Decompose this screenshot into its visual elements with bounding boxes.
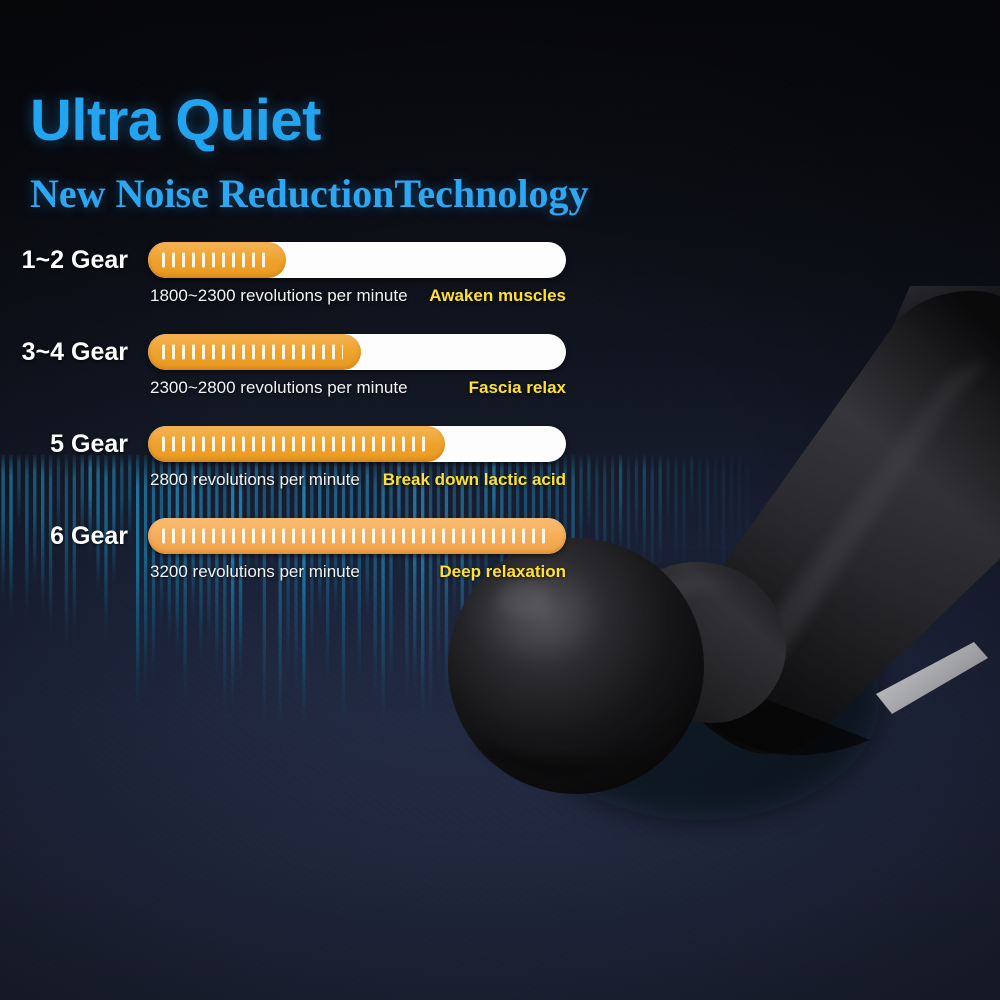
page-title: Ultra Quiet [30, 92, 321, 150]
gear-benefit-text: Deep relaxation [439, 558, 566, 586]
gear-row: 5 Gear2800 revolutions per minuteBreak d… [0, 422, 600, 502]
gear-tick-marks [162, 529, 548, 544]
gear-benefit-text: Break down lactic acid [383, 466, 566, 494]
gear-tick-marks [162, 345, 343, 360]
gear-tick-marks [162, 253, 268, 268]
gear-caption-row: 2800 revolutions per minuteBreak down la… [148, 466, 566, 494]
gear-progress-fill [148, 426, 445, 462]
gear-benefit-text: Fascia relax [469, 374, 566, 402]
gear-label: 6 Gear [0, 514, 128, 558]
gear-progress-track[interactable] [148, 426, 566, 462]
infographic-canvas: Ultra Quiet New Noise ReductionTechnolog… [0, 0, 1000, 1000]
page-subtitle: New Noise ReductionTechnology [30, 174, 589, 214]
gear-caption-row: 3200 revolutions per minuteDeep relaxati… [148, 558, 566, 586]
gear-progress-track[interactable] [148, 518, 566, 554]
gear-label: 3~4 Gear [0, 330, 128, 374]
gear-rpm-text: 2800 revolutions per minute [150, 466, 360, 494]
gear-caption-row: 2300~2800 revolutions per minuteFascia r… [148, 374, 566, 402]
gear-rpm-text: 2300~2800 revolutions per minute [150, 374, 408, 402]
gear-progress-track[interactable] [148, 334, 566, 370]
gear-caption-row: 1800~2300 revolutions per minuteAwaken m… [148, 282, 566, 310]
gear-label: 1~2 Gear [0, 238, 128, 282]
gear-label: 5 Gear [0, 422, 128, 466]
gear-progress-fill [148, 518, 566, 554]
gear-tick-marks [162, 437, 427, 452]
gear-progress-track[interactable] [148, 242, 566, 278]
gear-row: 3~4 Gear2300~2800 revolutions per minute… [0, 330, 600, 410]
gear-rpm-text: 3200 revolutions per minute [150, 558, 360, 586]
gear-benefit-text: Awaken muscles [429, 282, 566, 310]
gear-row: 6 Gear3200 revolutions per minuteDeep re… [0, 514, 600, 594]
gear-row: 1~2 Gear1800~2300 revolutions per minute… [0, 238, 600, 318]
gear-progress-fill [148, 334, 361, 370]
gear-rpm-text: 1800~2300 revolutions per minute [150, 282, 408, 310]
gear-progress-fill [148, 242, 286, 278]
